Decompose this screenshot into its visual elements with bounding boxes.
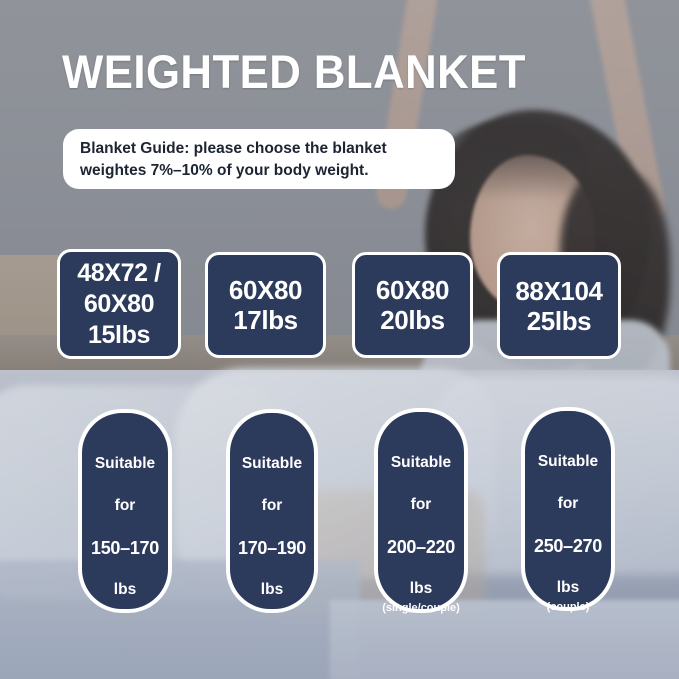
suitability-panel-250-270[interactable]: Suitable for 250–270 lbs (couple): [521, 407, 615, 611]
size-card-60x80-20lbs[interactable]: 60X80 20lbs: [352, 252, 473, 358]
suitability-conjunction: for: [262, 497, 283, 515]
suitability-weight-unit: lbs: [410, 580, 432, 598]
suitability-weight-unit: lbs: [261, 581, 283, 599]
blanket-guide-line-1: Blanket Guide: please choose the blanket: [80, 138, 439, 160]
size-card-line-1: 88X104: [515, 276, 602, 306]
size-card-line-2: 60X80: [84, 289, 154, 320]
size-card-line-2: 17lbs: [233, 305, 298, 335]
suitability-weight-unit: lbs: [557, 579, 579, 597]
size-card-line-1: 48X72 /: [77, 258, 160, 289]
suitability-label: Suitable: [391, 454, 451, 472]
suitability-weight-range: 150–170: [91, 539, 159, 557]
suitability-panel-200-220[interactable]: Suitable for 200–220 lbs (single/couple): [374, 408, 468, 613]
suitability-weight-unit: lbs: [114, 581, 136, 599]
size-card-line-1: 60X80: [376, 275, 449, 305]
suitability-weight-range: 200–220: [387, 538, 455, 556]
overlay-content: WEIGHTED BLANKET Blanket Guide: please c…: [0, 0, 679, 679]
suitability-weight-range: 170–190: [238, 539, 306, 557]
size-card-line-1: 60X80: [229, 275, 302, 305]
suitability-conjunction: for: [558, 495, 579, 513]
suitability-panel-150-170[interactable]: Suitable for 150–170 lbs: [78, 409, 172, 613]
suitability-label: Suitable: [242, 455, 302, 473]
suitability-note: (couple): [547, 601, 590, 614]
suitability-conjunction: for: [115, 497, 136, 515]
size-card-88x104-25lbs[interactable]: 88X104 25lbs: [497, 252, 621, 359]
suitability-label: Suitable: [95, 455, 155, 473]
blanket-guide-callout: Blanket Guide: please choose the blanket…: [63, 129, 455, 189]
size-card-line-3: 15lbs: [88, 320, 150, 351]
product-infographic: WEIGHTED BLANKET Blanket Guide: please c…: [0, 0, 679, 679]
blanket-guide-line-2: weightes 7%–10% of your body weight.: [80, 160, 439, 182]
size-card-48x72-60x80-15lbs[interactable]: 48X72 / 60X80 15lbs: [57, 249, 181, 359]
size-card-line-2: 20lbs: [380, 305, 445, 335]
suitability-conjunction: for: [411, 496, 432, 514]
page-title: WEIGHTED BLANKET: [62, 46, 462, 98]
size-card-60x80-17lbs[interactable]: 60X80 17lbs: [205, 252, 326, 358]
suitability-note: (single/couple): [382, 602, 460, 615]
size-card-line-2: 25lbs: [527, 306, 592, 336]
suitability-label: Suitable: [538, 453, 598, 471]
suitability-panel-170-190[interactable]: Suitable for 170–190 lbs: [226, 409, 318, 613]
suitability-weight-range: 250–270: [534, 537, 602, 555]
